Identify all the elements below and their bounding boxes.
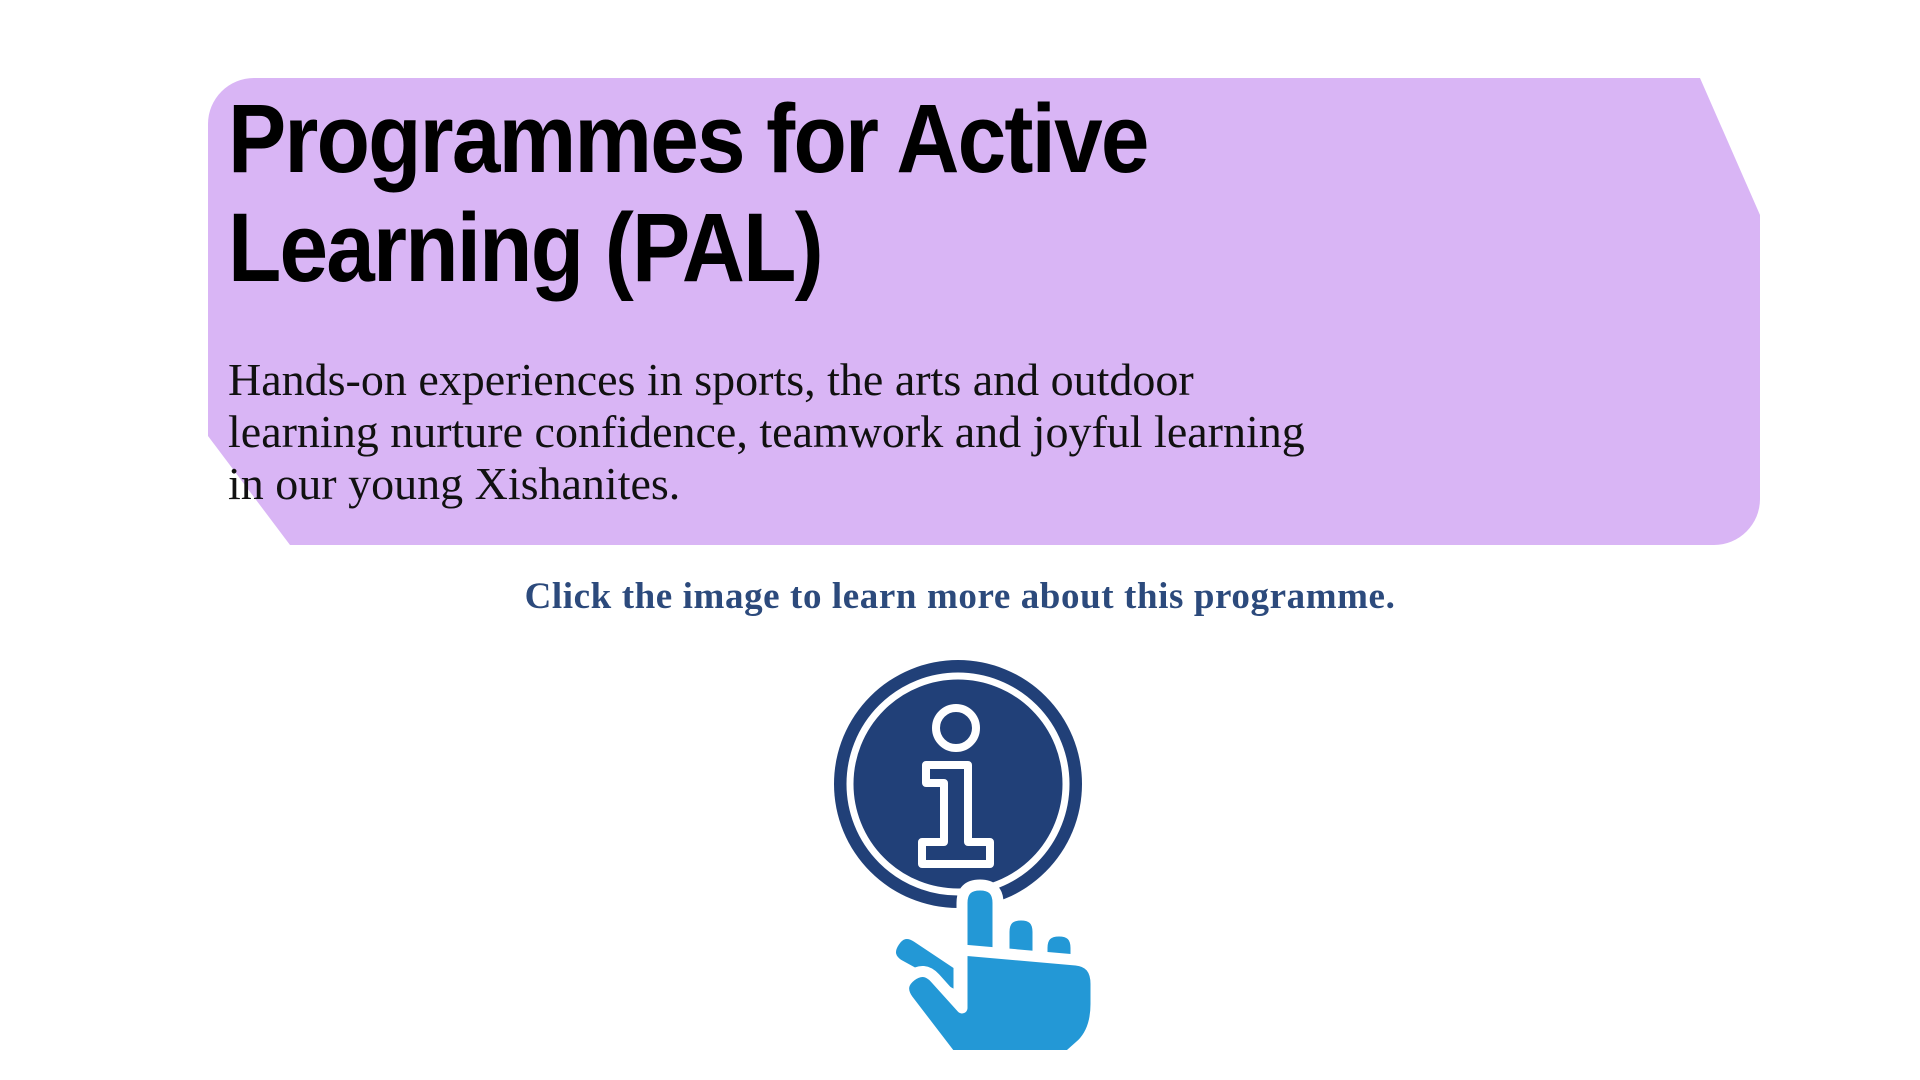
info-hand-illustration[interactable] [834,660,1134,1050]
info-image-link[interactable] [834,660,1134,1050]
pointing-hand-cursor-icon [890,885,1096,1050]
banner-description: Hands-on experiences in sports, the arts… [228,354,1718,510]
page-title: Programmes for Active Learning (PAL) [228,85,1506,302]
click-prompt-text: Click the image to learn more about this… [0,575,1920,618]
banner-content: Programmes for Active Learning (PAL) Han… [208,78,1760,545]
info-circle-icon [834,660,1082,908]
